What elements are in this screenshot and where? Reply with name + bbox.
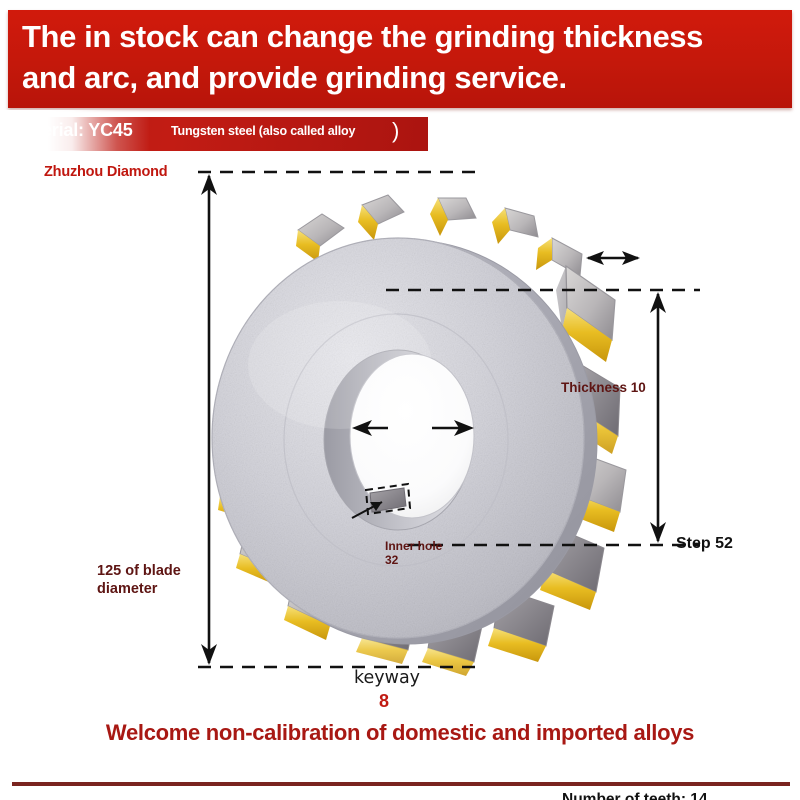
headline-text: The in stock can change the grinding thi… (22, 16, 784, 98)
tooth (358, 195, 404, 240)
saw-blade-illustration (0, 150, 800, 690)
inner-hole-label: Inner hole 32 (385, 539, 442, 567)
keyway-label: keyway (354, 668, 420, 688)
tooth (536, 238, 582, 276)
step-label: Step 52 (676, 535, 733, 553)
thickness-label: Thickness 10 (561, 380, 646, 395)
number-of-teeth-label: Number of teeth: 14 (562, 791, 708, 800)
headline-banner: The in stock can change the grinding thi… (8, 10, 792, 108)
tooth (492, 208, 538, 244)
material-description-label: Tungsten steel (also called alloy (171, 124, 355, 138)
material-grade-label: erial: YC45 (42, 120, 133, 141)
tooth (430, 198, 476, 236)
blade-diameter-label: 125 of blade diameter (97, 562, 181, 598)
blade-body (212, 238, 597, 644)
material-closing-paren: ) (392, 118, 399, 144)
keyway-value-label: 8 (379, 691, 389, 712)
footer-divider (12, 782, 790, 786)
footer-slogan: Welcome non-calibration of domestic and … (0, 720, 800, 746)
product-figure: Thickness 10 Step 52 125 of blade diamet… (0, 150, 800, 690)
product-spec-page: The in stock can change the grinding thi… (0, 0, 800, 800)
